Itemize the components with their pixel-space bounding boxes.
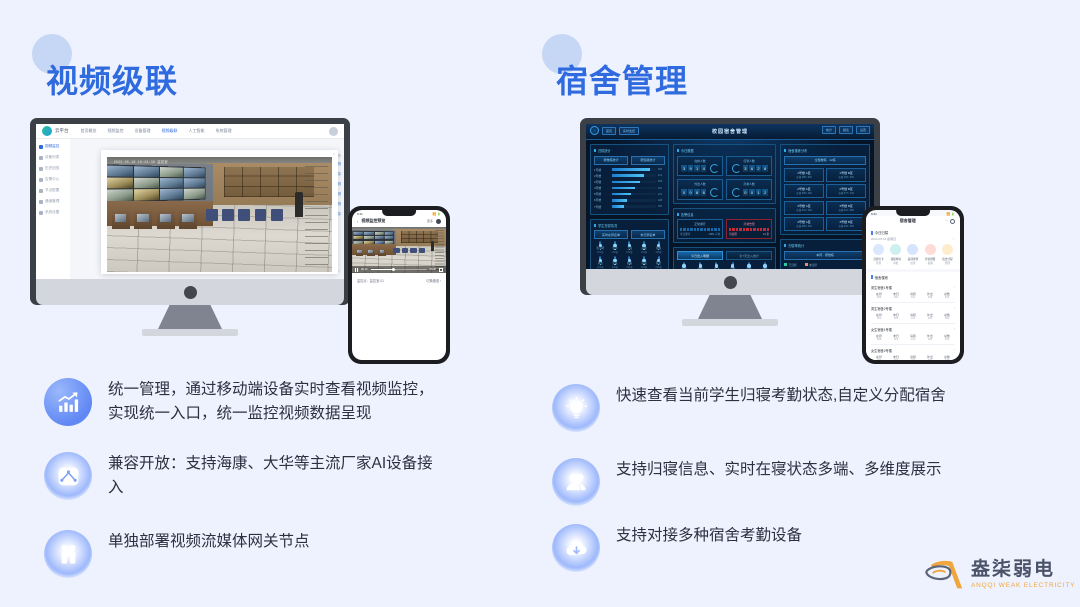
room-card[interactable]: 4号楼 B区在寝 254 / 320 bbox=[826, 217, 866, 231]
panel-title: 告警信息 bbox=[677, 212, 772, 217]
quick-action-label: 宿舍分配 bbox=[940, 257, 955, 261]
nav-item[interactable]: 系统管理 bbox=[216, 128, 232, 134]
sidebar-item[interactable]: 告警中心 bbox=[39, 177, 67, 182]
sidebar-item[interactable]: 通道管理 bbox=[39, 199, 67, 204]
visitor-avatar-grid: 刘洋07:12 韩雪07:30 段飞07:45 高原08:02 宋佳08:18 … bbox=[677, 263, 772, 269]
alert-footer-left: 今日累计 bbox=[680, 232, 690, 236]
counter-digits: 0 0 1 2 bbox=[729, 188, 769, 197]
sidebar-item[interactable]: 历史回放 bbox=[39, 166, 67, 171]
dashboard-column-center: 今日数据 在校人数 3 9 1 4 bbox=[673, 144, 776, 265]
counter-digits: 0 0 8 6 bbox=[680, 188, 720, 197]
quick-action-icon bbox=[925, 244, 936, 255]
digit: 4 bbox=[701, 165, 706, 172]
visitor-card[interactable]: 刘洋07:12 bbox=[677, 263, 691, 269]
digit: 0 bbox=[681, 189, 686, 196]
bar-value: 486 bbox=[658, 168, 665, 171]
bar-label: 3号楼 bbox=[594, 180, 610, 184]
cloud-download-icon bbox=[552, 524, 600, 572]
monitor-stand-base bbox=[142, 329, 238, 336]
feature-text: 统一管理，通过移动端设备实时查看视频监控，实现统一入口，统一监控视频数据呈现 bbox=[108, 378, 438, 427]
back-icon[interactable]: ‹ bbox=[357, 219, 358, 224]
photo-cabinet bbox=[134, 211, 152, 229]
photo-cabinet bbox=[179, 211, 197, 229]
mobile-video-app: 9:41 📶 🔋 ‹ 视频监控预览 更多 bbox=[352, 210, 446, 360]
pager-next[interactable]: > bbox=[338, 269, 340, 273]
mobile-nav-bar: 宿舍管理 ··· bbox=[866, 216, 960, 227]
sidebar-icon bbox=[39, 211, 43, 215]
digit: 9 bbox=[688, 165, 693, 172]
monitor-chin bbox=[586, 269, 874, 295]
browser-main: 操作 预览编辑 预览编辑删除 预览编辑 预览编辑 预览编辑 预览编辑删除 < 1 bbox=[70, 139, 344, 279]
room-meta: 在寝 486 / 520 bbox=[787, 175, 821, 179]
monitor-mockup-right: 首页 实时监控 校园宿舍管理 统计 报表 设置 bbox=[580, 118, 880, 326]
nav-item[interactable]: 首页概览 bbox=[81, 128, 97, 134]
student-room: 205室 bbox=[652, 265, 665, 269]
cell-value: 009 bbox=[922, 338, 938, 341]
avatar bbox=[658, 256, 660, 262]
monitor-screen: 首页 实时监控 校园宿舍管理 统计 报表 设置 bbox=[586, 124, 874, 269]
panel-title: 归寝率统计 bbox=[784, 243, 866, 248]
more-icon[interactable]: ··· bbox=[945, 219, 948, 223]
tab-active[interactable]: 今日出入明细 bbox=[677, 251, 723, 260]
bar-label: 2号楼 bbox=[594, 174, 610, 178]
gauge-ring-icon bbox=[732, 164, 741, 173]
panel-tabs[interactable]: 今日出入明细 近7天出入统计 bbox=[677, 251, 772, 260]
tab[interactable]: 实时在寝名单 bbox=[594, 230, 628, 239]
pause-icon[interactable] bbox=[355, 268, 358, 272]
room-meta: 在寝 452 / 500 bbox=[829, 175, 863, 179]
network-node-icon bbox=[44, 452, 92, 500]
status-time: 9:41 bbox=[871, 212, 877, 216]
quick-action-meta: 审批 bbox=[888, 261, 903, 265]
phone-screen: 9:41 📶 🔋 宿舍管理 ··· 今日归寝 2023-05-18 星期四 ♡ bbox=[866, 210, 960, 360]
counter-label: 在校人数 bbox=[680, 159, 720, 163]
student-card[interactable]: 李华102室 bbox=[609, 242, 622, 254]
dormitory-dashboard: 首页 实时监控 校园宿舍管理 统计 报表 设置 bbox=[586, 124, 874, 269]
monitor-stand-neck bbox=[698, 295, 762, 319]
alert-warning: 异常告警 待处理 12 条 bbox=[726, 219, 772, 239]
feature-item: 统一管理，通过移动端设备实时查看视频监控，实现统一入口，统一监控视频数据呈现 bbox=[44, 378, 438, 427]
sidebar-item[interactable]: 节点配置 bbox=[39, 188, 67, 193]
student-avatar-grid: 张小明101室 李华102室 王强103室 赵敏104室 孙悦105室 周杰20… bbox=[594, 242, 665, 269]
two-people-icon bbox=[44, 530, 92, 578]
room-card[interactable]: 3号楼 B区在寝 312 / 380 bbox=[826, 201, 866, 215]
digit: 2 bbox=[756, 165, 761, 172]
cell-value: 014 bbox=[905, 317, 921, 320]
nav-item[interactable]: 视频监控 bbox=[108, 128, 124, 134]
sidebar-icon bbox=[39, 178, 43, 182]
quick-action-meta: 签到 bbox=[871, 261, 886, 265]
avatar bbox=[614, 256, 616, 262]
bar-value: 241 bbox=[658, 193, 665, 196]
sidebar-label: 历史回放 bbox=[45, 166, 59, 171]
cell-value: 486 bbox=[871, 296, 887, 299]
more-label[interactable]: 更多 bbox=[427, 219, 433, 223]
student-card[interactable]: 陈晨205室 bbox=[652, 257, 665, 269]
nav-item[interactable]: 人工智能 bbox=[189, 128, 205, 134]
counter-card: 外出人数 0 0 8 6 bbox=[677, 179, 723, 200]
digit: 3 bbox=[681, 165, 686, 172]
panel-tabs[interactable]: 按楼栋统计 按班级统计 bbox=[594, 156, 665, 165]
feature-item: 支持对接多种宿舍考勤设备 bbox=[552, 524, 802, 572]
nav-item[interactable]: 设备管理 bbox=[135, 128, 151, 134]
room-card[interactable]: 2号楼 B区在寝 377 / 440 bbox=[826, 184, 866, 198]
student-room: 103室 bbox=[623, 250, 636, 254]
student-card[interactable]: 孙悦105室 bbox=[652, 242, 665, 254]
slide: 视频级联 宿舍管理 云平台 首页概览 视频监控 设备管理 视频级联 bbox=[0, 0, 1080, 607]
digit: 8 bbox=[694, 189, 699, 196]
mobile-page-title: 视频监控预览 bbox=[361, 218, 385, 224]
legend-item: 未归寝 bbox=[805, 263, 817, 267]
current-time: 00:12 bbox=[361, 268, 368, 271]
scan-icon[interactable] bbox=[950, 219, 955, 224]
user-group-icon bbox=[552, 458, 600, 506]
section-title-right: 宿舍管理 bbox=[542, 34, 674, 80]
phone-mockup-left: 9:41 📶 🔋 ‹ 视频监控预览 更多 bbox=[348, 206, 450, 364]
room-card[interactable]: 4号楼 A区在寝 286 / 340 bbox=[784, 217, 824, 231]
photo-monitor-wall bbox=[352, 230, 394, 244]
chevron-right-icon: › bbox=[954, 327, 955, 332]
bar-label: 6号楼 bbox=[594, 198, 610, 202]
bar-row: 1号楼486 bbox=[594, 168, 665, 172]
alert-footer-right: 1082 人次 bbox=[708, 232, 720, 236]
bar-value: 297 bbox=[658, 187, 665, 190]
photo-person bbox=[431, 241, 434, 251]
counter-digits: 3 6 2 8 bbox=[729, 164, 769, 173]
bar-value: 156 bbox=[658, 205, 665, 208]
gauge-ring-icon bbox=[732, 188, 741, 197]
digit: 6 bbox=[701, 189, 706, 196]
monitor-stand-neck bbox=[158, 305, 222, 329]
visitor-card[interactable]: 段飞07:45 bbox=[709, 263, 723, 269]
progress-filter[interactable]: 本周 · 按楼栋 bbox=[784, 251, 866, 260]
bar-value: 358 bbox=[658, 180, 665, 183]
counter-card: 归寝人数 3 6 2 8 bbox=[726, 156, 772, 177]
counter-grid: 在校人数 3 9 1 4 bbox=[677, 156, 772, 200]
digit: 1 bbox=[694, 165, 699, 172]
switch-channel-link[interactable]: 切换通道 › bbox=[426, 278, 441, 283]
student-room: 202室 bbox=[609, 265, 622, 269]
avatar bbox=[764, 262, 766, 268]
quick-action-meta: 管理 bbox=[940, 261, 955, 265]
sidebar-icon bbox=[39, 156, 43, 160]
student-card[interactable]: 周杰201室 bbox=[594, 257, 607, 269]
room-grid: 1号楼 A区在寝 486 / 520 1号楼 B区在寝 452 / 500 2号… bbox=[784, 168, 866, 232]
rooms-filter[interactable]: 全部楼栋 · 12栋 bbox=[784, 156, 866, 165]
cell-value: 377 bbox=[871, 359, 887, 361]
feature-item: 兼容开放：支持海康、大华等主流厂家AI设备接入 bbox=[44, 452, 438, 501]
monitor-body: 首页 实时监控 校园宿舍管理 统计 报表 设置 bbox=[580, 118, 880, 295]
photo-cabinet bbox=[378, 249, 386, 256]
header-chip[interactable]: 统计 bbox=[822, 126, 836, 134]
sidebar-icon bbox=[39, 189, 43, 193]
cell-value: 028 bbox=[888, 317, 904, 320]
cell-value: 008 bbox=[922, 296, 938, 299]
room-meta: 在寝 398 / 460 bbox=[787, 191, 821, 195]
photo-stools bbox=[393, 245, 425, 252]
alert-footer-right: 12 条 bbox=[763, 232, 769, 236]
logo-en-text: ANQQI WEAK ELECTRICITY bbox=[971, 582, 1075, 589]
visitor-card[interactable]: 韩雪07:30 bbox=[693, 263, 707, 269]
browser-window: 云平台 首页概览 视频监控 设备管理 视频级联 人工智能 系统管理 bbox=[36, 124, 344, 279]
digit: 3 bbox=[743, 165, 748, 172]
room-meta: 在寝 312 / 380 bbox=[829, 208, 863, 212]
user-avatar-icon[interactable] bbox=[329, 127, 338, 136]
quick-action-icon bbox=[890, 244, 901, 255]
list-item[interactable]: 女生宿舍2号楼› 在寝377 未归019 请假010 外出004 总数440 bbox=[871, 345, 955, 361]
tab[interactable]: 近7天出入统计 bbox=[726, 251, 772, 260]
cell-value: 011 bbox=[905, 338, 921, 341]
avatar bbox=[715, 262, 717, 268]
digit: 2 bbox=[762, 189, 767, 196]
feature-text: 快速查看当前学生归寝考勤状态,自定义分配宿舍 bbox=[616, 384, 946, 408]
quick-action[interactable]: 宿舍分配管理 bbox=[940, 244, 955, 265]
status-indicators: 📶 🔋 bbox=[947, 212, 955, 216]
room-meta: 在寝 341 / 400 bbox=[787, 208, 821, 212]
phone-notch bbox=[382, 210, 416, 216]
student-room: 203室 bbox=[623, 265, 636, 269]
status-indicators: 📶 🔋 bbox=[433, 212, 441, 216]
list-item[interactable]: 女生宿舍1号楼› 在寝398 未归022 请假011 外出009 总数460 bbox=[871, 324, 955, 345]
phone-screen: 9:41 📶 🔋 ‹ 视频监控预览 更多 bbox=[352, 210, 446, 360]
header-chip[interactable]: 设置 bbox=[856, 126, 870, 134]
surveillance-photo: 2023-05-18 10:24:36 监控室 bbox=[107, 157, 332, 272]
visitor-card[interactable]: 钱伟08:33 bbox=[758, 263, 772, 269]
bar-label: 7号楼 bbox=[594, 205, 610, 209]
student-card[interactable]: 张小明101室 bbox=[594, 242, 607, 254]
room-card[interactable]: 2号楼 A区在寝 398 / 460 bbox=[784, 184, 824, 198]
browser-top-bar: 云平台 首页概览 视频监控 设备管理 视频级联 人工智能 系统管理 bbox=[36, 124, 344, 139]
section-title-left-text: 视频级联 bbox=[46, 63, 178, 99]
photo-door bbox=[435, 230, 444, 270]
photo-cabinet bbox=[356, 249, 364, 256]
room-card[interactable]: 1号楼 B区在寝 452 / 500 bbox=[826, 168, 866, 182]
photo-cabinet bbox=[157, 211, 175, 229]
close-icon[interactable]: × bbox=[333, 151, 335, 156]
quick-action-icon bbox=[873, 244, 884, 255]
alert-label: 正常通行 bbox=[680, 222, 720, 226]
progress-slider[interactable] bbox=[371, 269, 427, 270]
quick-action-icon bbox=[942, 244, 953, 255]
video-player[interactable]: 00:12 05:30 bbox=[352, 227, 446, 273]
cell-value: 012 bbox=[905, 296, 921, 299]
counter-label: 外出人数 bbox=[680, 182, 720, 186]
sidebar-icon bbox=[39, 145, 43, 149]
browser-sidebar[interactable]: 视频监控 设备列表 历史回放 告警中心 节点配置 通道管理 系统设置 bbox=[36, 139, 70, 279]
building-name: 女生宿舍1号楼 bbox=[871, 327, 892, 332]
bar-label: 5号楼 bbox=[594, 192, 610, 196]
student-card[interactable]: 冯强204室 bbox=[638, 257, 651, 269]
avatar bbox=[748, 262, 750, 268]
photo-monitor-wall bbox=[107, 165, 206, 203]
counter-label: 异常人数 bbox=[729, 182, 769, 186]
cell-value: 010 bbox=[905, 359, 921, 361]
digit: 8 bbox=[762, 165, 767, 172]
player-controls[interactable]: 00:12 05:30 bbox=[352, 266, 446, 273]
sidebar-label: 节点配置 bbox=[45, 188, 59, 193]
sidebar-label: 通道管理 bbox=[45, 199, 59, 204]
list-item[interactable]: 男生宿舍1号楼› 在寝486 未归034 请假012 外出008 总数520 bbox=[871, 282, 955, 303]
tab[interactable]: 按楼栋统计 bbox=[594, 156, 628, 165]
avatar bbox=[599, 256, 601, 262]
gauge-ring-icon bbox=[710, 188, 719, 197]
header-chip[interactable]: 报表 bbox=[839, 126, 853, 134]
student-room: 101室 bbox=[594, 250, 607, 254]
avatar bbox=[643, 256, 645, 262]
section-title-right-text: 宿舍管理 bbox=[556, 63, 688, 99]
student-room: 105室 bbox=[652, 250, 665, 254]
rooms-filter-button[interactable]: 全部楼栋 · 12栋 bbox=[784, 156, 866, 165]
sidebar-icon bbox=[39, 167, 43, 171]
browser-nav[interactable]: 首页概览 视频监控 设备管理 视频级联 人工智能 系统管理 bbox=[81, 128, 330, 134]
section-title: 今日归寝 bbox=[875, 230, 889, 235]
panel-alerts: 告警信息 正常通行 今日累计 1082 人次 bbox=[673, 208, 776, 244]
cell-value: 019 bbox=[888, 359, 904, 361]
avatar bbox=[732, 262, 734, 268]
panel-rooms: 宿舍楼栋分布 全部楼栋 · 12栋 1号楼 A区在寝 486 / 520 1号楼… bbox=[780, 144, 870, 235]
favorite-icon[interactable]: ♡ bbox=[952, 237, 955, 241]
digit: 6 bbox=[749, 165, 754, 172]
progress-filter-button[interactable]: 本周 · 按楼栋 bbox=[784, 251, 866, 260]
video-preview-modal: × bbox=[101, 150, 338, 274]
quick-action-label: 归寝打卡 bbox=[871, 257, 886, 261]
sidebar-label: 系统设置 bbox=[45, 210, 59, 215]
digit: 0 bbox=[743, 189, 748, 196]
alert-label: 异常告警 bbox=[729, 222, 769, 226]
quick-action[interactable]: 异常预警提醒 bbox=[923, 244, 938, 265]
anqi-swoosh-logo-icon bbox=[924, 552, 964, 590]
photo-stools bbox=[206, 203, 283, 221]
alert-footer: 待处理 12 条 bbox=[729, 232, 769, 236]
bar-value: 412 bbox=[658, 174, 665, 177]
photo-scene: 2023-05-18 10:24:36 监控室 bbox=[107, 157, 332, 272]
avatar bbox=[643, 241, 645, 247]
counter-card: 异常人数 0 0 1 2 bbox=[726, 179, 772, 200]
visitor-card[interactable]: 高原08:02 bbox=[726, 263, 740, 269]
bar-label: 1号楼 bbox=[594, 168, 610, 172]
fullscreen-icon[interactable] bbox=[439, 268, 443, 272]
lightbulb-icon bbox=[552, 384, 600, 432]
logo-cn-text: 盎柒弱电 bbox=[971, 554, 1075, 581]
student-card[interactable]: 吴磊202室 bbox=[609, 257, 622, 269]
cell-value: 398 bbox=[871, 338, 887, 341]
date-row: 2023-05-18 星期四 ♡ bbox=[871, 237, 955, 241]
photo-door bbox=[305, 165, 328, 265]
cell-value: 440 bbox=[939, 359, 955, 361]
section-title-left: 视频级联 bbox=[32, 34, 164, 80]
cell-value: 520 bbox=[939, 296, 955, 299]
avatar bbox=[683, 262, 685, 268]
bar-chart-growth-icon bbox=[44, 378, 92, 426]
phone-mockup-right: 9:41 📶 🔋 宿舍管理 ··· 今日归寝 2023-05-18 星期四 ♡ bbox=[862, 206, 964, 364]
panel-title: 宿舍楼栋分布 bbox=[784, 148, 866, 153]
section-heading: 今日归寝 bbox=[871, 230, 955, 235]
panel-attendance: 归寝统计 按楼栋统计 按班级统计 1号楼486 2号楼412 3号楼358 4号… bbox=[590, 144, 669, 215]
quick-actions[interactable]: 归寝打卡签到 请假申请审批 夜间查寝巡查 异常预警提醒 宿舍分配管理 bbox=[871, 244, 955, 265]
panel-students: 学生在寝情况 实时在寝名单 未归寝名单 张小明101室 李华102室 王强103… bbox=[590, 219, 669, 269]
nav-item-active[interactable]: 视频级联 bbox=[162, 128, 178, 134]
chevron-right-icon: › bbox=[954, 348, 955, 353]
platform-logo-icon bbox=[42, 126, 52, 136]
alert-normal: 正常通行 今日累计 1082 人次 bbox=[677, 219, 723, 239]
quick-action-icon bbox=[907, 244, 918, 255]
counter-digits: 3 9 1 4 bbox=[680, 164, 720, 173]
bar-value: 198 bbox=[658, 199, 665, 202]
legend-label: 已归寝 bbox=[789, 263, 797, 267]
bar-row: 4号楼297 bbox=[594, 186, 665, 190]
section-title: 宿舍楼栋 bbox=[875, 275, 889, 280]
room-card[interactable]: 3号楼 A区在寝 341 / 400 bbox=[784, 201, 824, 215]
tab[interactable]: 未归寝名单 bbox=[631, 230, 665, 239]
student-card[interactable]: 赵敏104室 bbox=[638, 242, 651, 254]
mobile-page-title: 宿舍管理 bbox=[871, 218, 945, 224]
sidebar-item[interactable]: 视频监控 bbox=[39, 144, 67, 149]
avatar bbox=[614, 241, 616, 247]
student-card[interactable]: 王强103室 bbox=[623, 242, 636, 254]
chevron-right-icon: › bbox=[954, 285, 955, 290]
student-room: 104室 bbox=[638, 250, 651, 254]
student-card[interactable]: 郑爽203室 bbox=[623, 257, 636, 269]
monitor-chin bbox=[36, 279, 344, 305]
camera-name: 监控点：监控室-01 bbox=[357, 278, 384, 283]
buildings-section: 宿舍楼栋 男生宿舍1号楼› 在寝486 未归034 请假012 外出008 总数… bbox=[866, 272, 960, 361]
room-card[interactable]: 1号楼 A区在寝 486 / 520 bbox=[784, 168, 824, 182]
gauge-ring-icon bbox=[710, 164, 719, 173]
monitor-screen: 云平台 首页概览 视频监控 设备管理 视频级联 人工智能 系统管理 bbox=[36, 124, 344, 279]
panel-counters: 今日数据 在校人数 3 9 1 4 bbox=[673, 144, 776, 204]
quick-action-meta: 提醒 bbox=[923, 261, 938, 265]
logo-words: 盎柒弱电 ANQQI WEAK ELECTRICITY bbox=[971, 554, 1075, 589]
sidebar-item[interactable]: 设备列表 bbox=[39, 155, 67, 160]
avatar bbox=[628, 256, 630, 262]
mobile-dorm-app: 9:41 📶 🔋 宿舍管理 ··· 今日归寝 2023-05-18 星期四 ♡ bbox=[866, 210, 960, 360]
alert-bargrid bbox=[680, 228, 720, 231]
bar-row: 7号楼156 bbox=[594, 205, 665, 209]
panel-progress: 归寝率统计 本周 · 按楼栋 已归寝 未归寝 1号楼归寝率 bbox=[780, 239, 870, 269]
panel-tabs[interactable]: 实时在寝名单 未归寝名单 bbox=[594, 230, 665, 239]
cell-value: 500 bbox=[939, 317, 955, 320]
quick-action[interactable]: 夜间查寝巡查 bbox=[905, 244, 920, 265]
video-meta: 监控点：监控室-01 切换通道 › bbox=[352, 273, 446, 288]
quick-action[interactable]: 归寝打卡签到 bbox=[871, 244, 886, 265]
mobile-nav-bar: ‹ 视频监控预览 更多 bbox=[352, 216, 446, 227]
bar-row: 3号楼358 bbox=[594, 180, 665, 184]
visitor-card[interactable]: 宋佳08:18 bbox=[742, 263, 756, 269]
quick-action[interactable]: 请假申请审批 bbox=[888, 244, 903, 265]
building-name: 女生宿舍2号楼 bbox=[871, 348, 892, 353]
dashboard-header: 首页 实时监控 校园宿舍管理 统计 报表 设置 bbox=[586, 124, 874, 140]
sidebar-item[interactable]: 系统设置 bbox=[39, 210, 67, 215]
panel-title: 归寝统计 bbox=[594, 148, 665, 153]
phone-notch bbox=[896, 210, 930, 216]
student-room: 201室 bbox=[594, 265, 607, 269]
building-name: 男生宿舍1号楼 bbox=[871, 285, 892, 290]
feature-text: 支持对接多种宿舍考勤设备 bbox=[616, 524, 802, 548]
list-item[interactable]: 男生宿舍2号楼› 在寝452 未归028 请假014 外出006 总数500 bbox=[871, 303, 955, 324]
feature-item: 快速查看当前学生归寝考勤状态,自定义分配宿舍 bbox=[552, 384, 946, 432]
room-meta: 在寝 254 / 320 bbox=[829, 224, 863, 228]
alert-footer: 今日累计 1082 人次 bbox=[680, 232, 720, 236]
tab[interactable]: 按班级统计 bbox=[631, 156, 665, 165]
sidebar-label: 设备列表 bbox=[45, 155, 59, 160]
feature-item: 单独部署视频流媒体网关节点 bbox=[44, 530, 310, 578]
feature-text: 支持归寝信息、实时在寝状态多端、多维度展示 bbox=[616, 458, 942, 482]
settings-icon[interactable] bbox=[436, 219, 441, 224]
phone-body: 9:41 📶 🔋 ‹ 视频监控预览 更多 bbox=[348, 206, 450, 364]
sidebar-icon bbox=[39, 200, 43, 204]
avatar bbox=[699, 262, 701, 268]
photo-cabinet bbox=[367, 249, 375, 256]
